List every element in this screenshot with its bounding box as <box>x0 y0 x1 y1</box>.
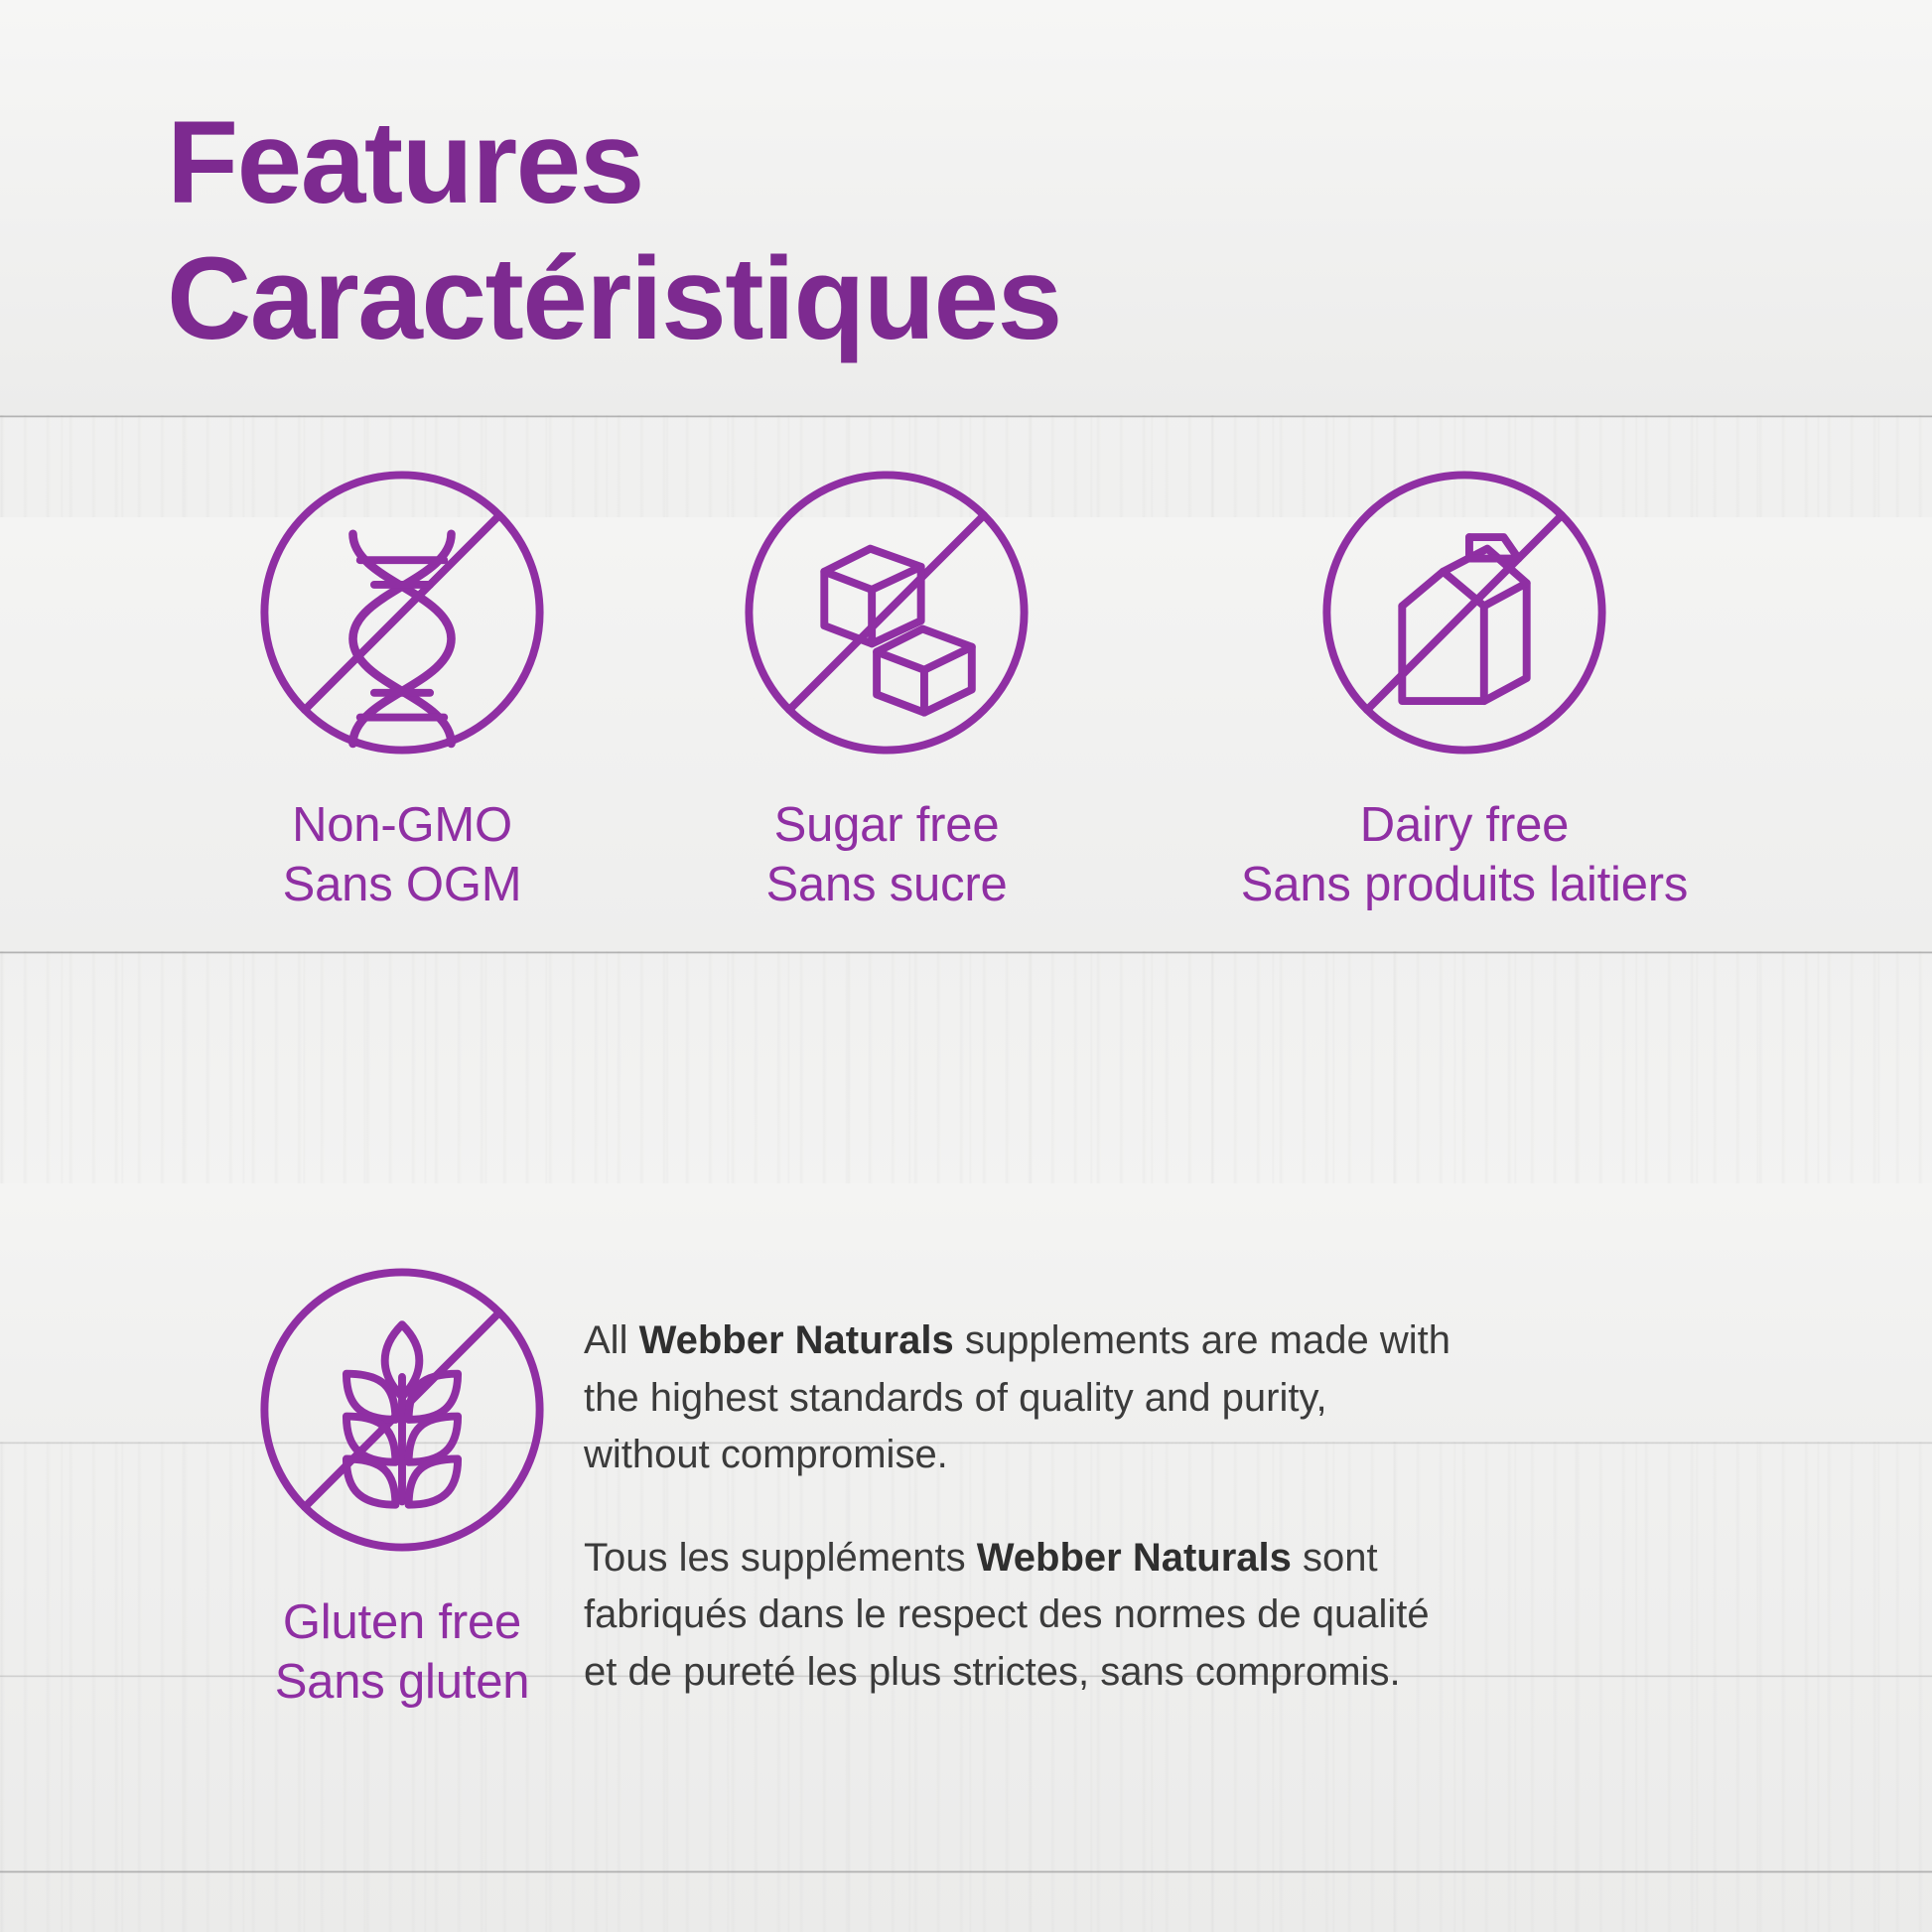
title-french: Caractéristiques <box>167 231 1775 367</box>
dairy-free-label-en: Dairy free <box>1087 796 1842 856</box>
sugar-free-label-fr: Sans sucre <box>604 856 1170 915</box>
body-copy: All Webber Naturals supplements are made… <box>584 1312 1457 1702</box>
en-lead: All <box>584 1318 639 1362</box>
no-dairy-milk-carton-icon <box>1301 449 1628 776</box>
no-gluten-wheat-icon <box>238 1246 566 1574</box>
feature-sugar-free: Sugar free Sans sucre <box>604 449 1170 915</box>
page-title: Features Caractéristiques <box>167 95 1775 367</box>
non-gmo-label-fr: Sans OGM <box>119 856 685 915</box>
fr-brand: Webber Naturals <box>977 1536 1292 1580</box>
dairy-free-label-fr: Sans produits laitiers <box>1087 856 1842 915</box>
fr-lead: Tous les suppléments <box>584 1536 977 1580</box>
sugar-free-icon-wrap <box>604 449 1170 776</box>
non-gmo-label-en: Non-GMO <box>119 796 685 856</box>
no-sugar-cubes-icon <box>723 449 1050 776</box>
dairy-free-icon-wrap <box>1087 449 1842 776</box>
paragraph-french: Tous les suppléments Webber Naturals son… <box>584 1530 1457 1702</box>
feature-dairy-free: Dairy free Sans produits laitiers <box>1087 449 1842 915</box>
feature-non-gmo: Non-GMO Sans OGM <box>119 449 685 915</box>
non-gmo-icon-wrap <box>119 449 685 776</box>
no-gmo-dna-icon <box>238 449 566 776</box>
title-english: Features <box>167 95 1775 231</box>
paragraph-english: All Webber Naturals supplements are made… <box>584 1312 1457 1484</box>
en-brand: Webber Naturals <box>639 1318 954 1362</box>
sugar-free-label-en: Sugar free <box>604 796 1170 856</box>
